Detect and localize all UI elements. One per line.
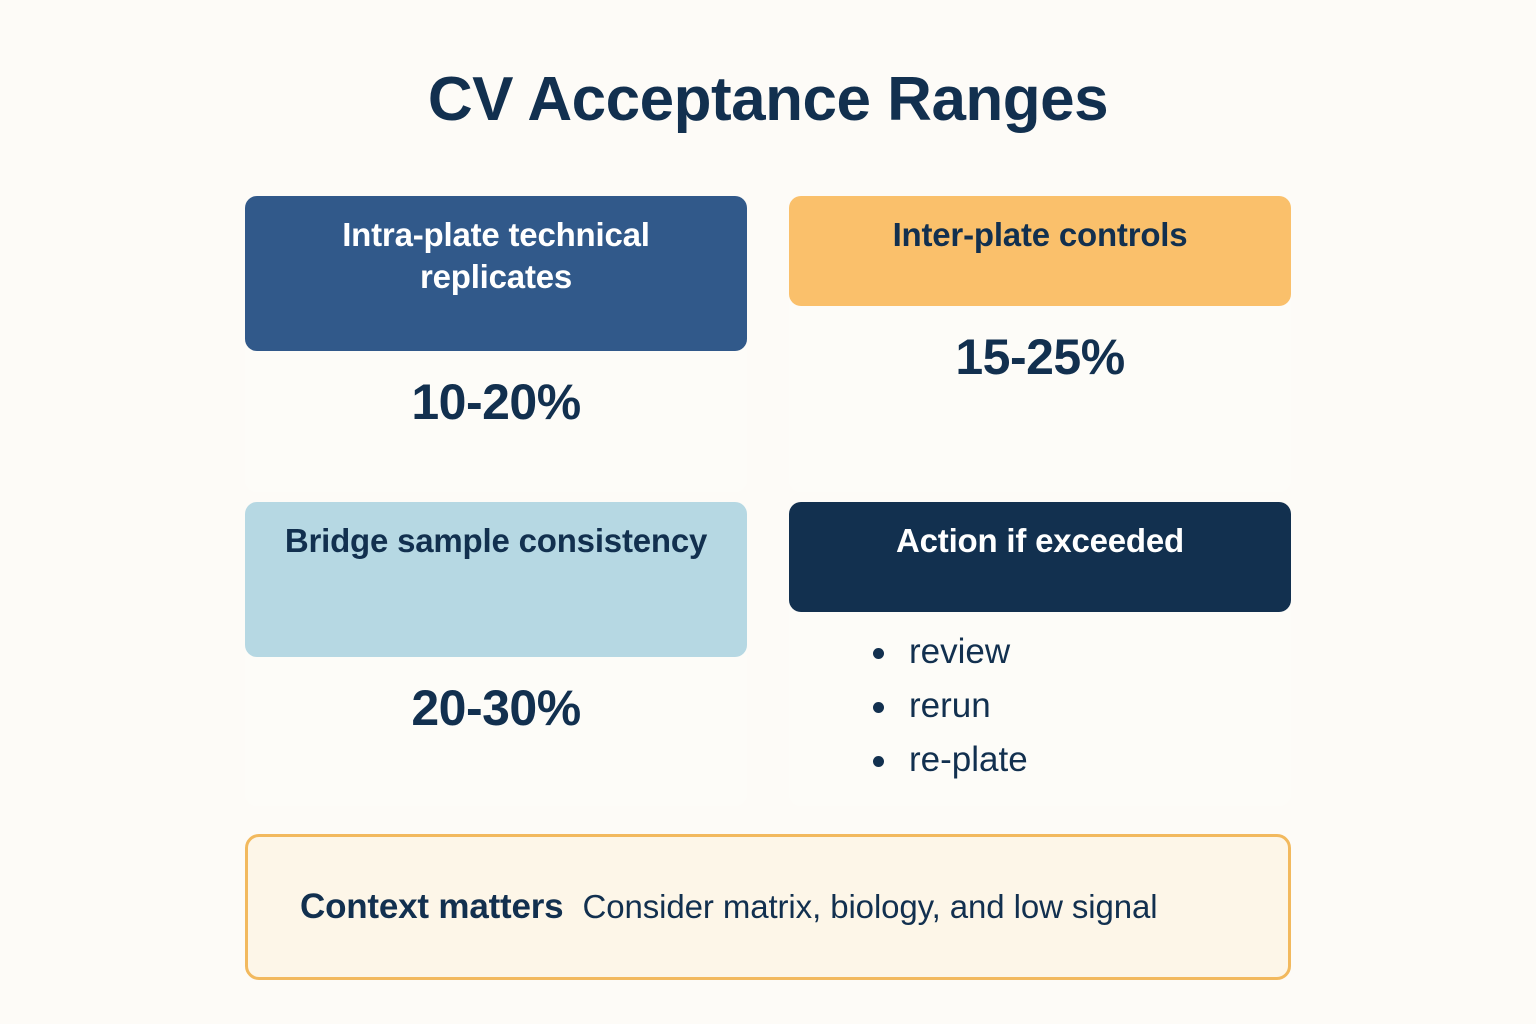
bullet-dot-icon — [873, 702, 884, 713]
list-item-label: rerun — [909, 686, 991, 725]
metric-value-bridge-sample-consistency: 20-30% — [411, 681, 580, 736]
card-body-action-if-exceeded: review rerun re-plate — [789, 612, 1291, 806]
card-body-intra-plate-technical-replicates: 10-20% — [245, 351, 747, 492]
card-bridge-sample-consistency: Bridge sample consistency 20-30% — [245, 502, 747, 806]
card-body-bridge-sample-consistency: 20-30% — [245, 657, 747, 806]
context-matters-lead: Context matters — [300, 887, 583, 926]
card-inter-plate-controls: Inter-plate controls 15-25% — [789, 196, 1291, 492]
list-item: re-plate — [873, 742, 1028, 777]
card-header-action-if-exceeded: Action if exceeded — [789, 502, 1291, 612]
list-item: rerun — [873, 688, 1028, 723]
bullet-dot-icon — [873, 756, 884, 767]
card-grid: Intra-plate technical replicates 10-20% … — [245, 196, 1291, 806]
list-item-label: review — [909, 632, 1010, 671]
metric-value-inter-plate-controls: 15-25% — [955, 330, 1124, 385]
card-intra-plate-technical-replicates: Intra-plate technical replicates 10-20% — [245, 196, 747, 492]
metric-value-intra-plate-technical-replicates: 10-20% — [411, 375, 580, 430]
card-header-inter-plate-controls: Inter-plate controls — [789, 196, 1291, 306]
card-body-inter-plate-controls: 15-25% — [789, 306, 1291, 492]
context-matters-text: Consider matrix, biology, and low signal — [583, 888, 1158, 925]
list-item: review — [873, 634, 1028, 669]
card-header-intra-plate-technical-replicates: Intra-plate technical replicates — [245, 196, 747, 351]
context-matters-banner: Context matters Consider matrix, biology… — [245, 834, 1291, 980]
card-action-if-exceeded: Action if exceeded review rerun re-plate — [789, 502, 1291, 806]
infographic-page: CV Acceptance Ranges Intra-plate technic… — [0, 0, 1536, 1024]
list-item-label: re-plate — [909, 740, 1028, 779]
action-list: review rerun re-plate — [789, 634, 1028, 796]
bullet-dot-icon — [873, 648, 884, 659]
page-title: CV Acceptance Ranges — [0, 66, 1536, 134]
context-matters-banner-content: Context matters Consider matrix, biology… — [248, 883, 1210, 931]
card-header-bridge-sample-consistency: Bridge sample consistency — [245, 502, 747, 657]
